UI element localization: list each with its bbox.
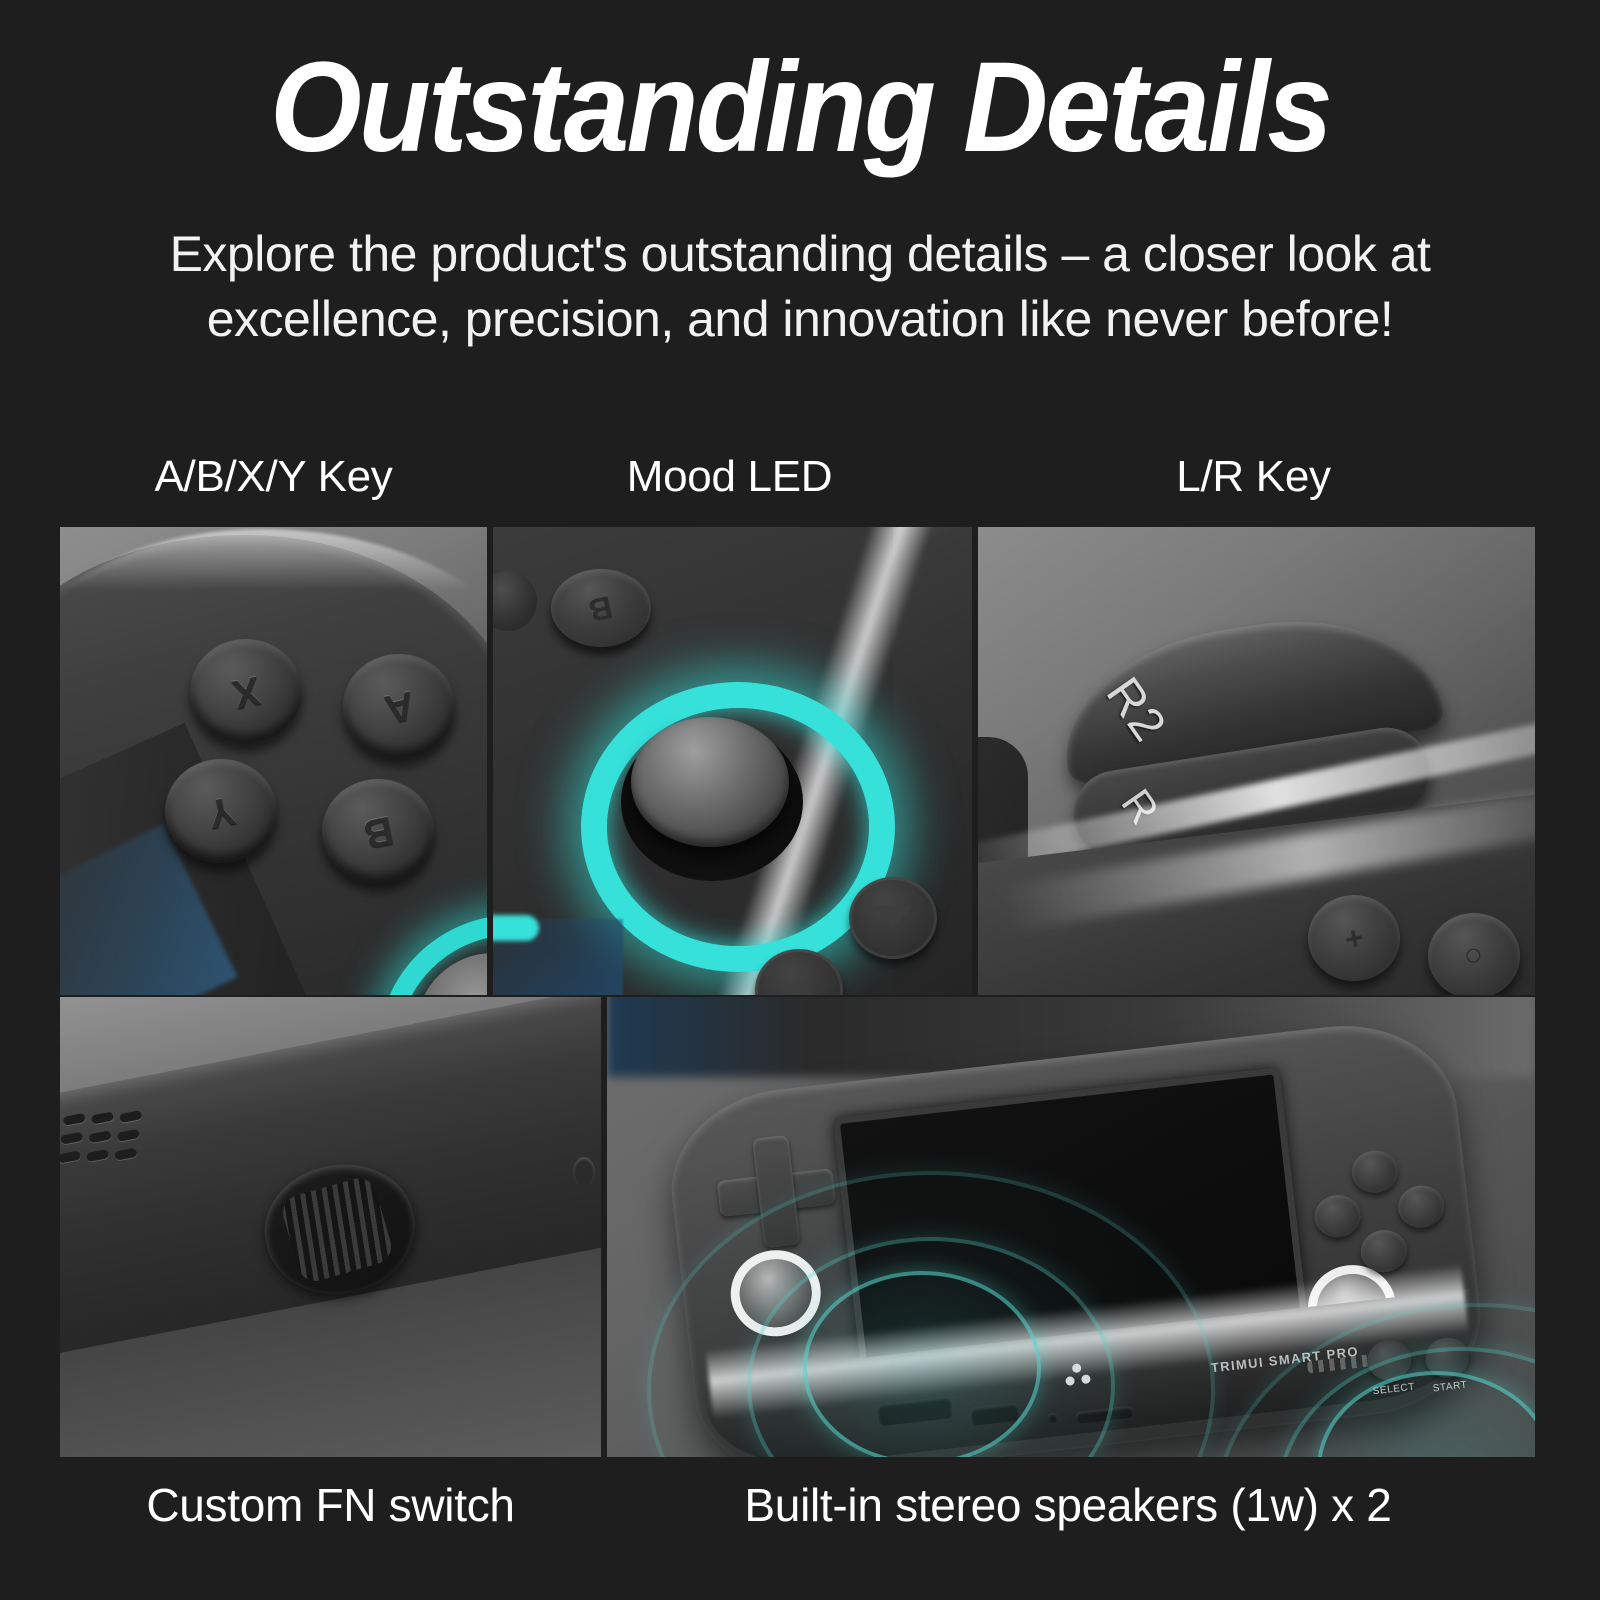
face-button-b-glyph: B	[586, 588, 616, 629]
bottom-label-row: Custom FN switch Built-in stereo speaker…	[60, 1478, 1535, 1532]
label-lr-key: L/R Key	[972, 452, 1535, 502]
face-button-a: A	[343, 654, 455, 758]
top-label-row: A/B/X/Y Key Mood LED L/R Key	[60, 452, 1535, 502]
sound-ripple-left-inner	[803, 1271, 1041, 1457]
shoulder-button-r2-label: R2	[1095, 668, 1178, 753]
joystick-cap	[631, 717, 789, 847]
photo-panel-mood-led: B	[493, 527, 972, 995]
face-button-y: Y	[165, 759, 277, 863]
face-button-one-glyph: +	[1341, 918, 1367, 958]
label-stereo-speakers: Built-in stereo speakers (1w) x 2	[601, 1478, 1535, 1532]
triangle-up-icon	[780, 978, 818, 995]
face-button-b-glyph: B	[359, 806, 397, 856]
page-title: Outstanding Details	[64, 44, 1536, 172]
face-button-cluster	[1308, 1143, 1451, 1283]
photo-panel-fn-switch	[60, 997, 601, 1457]
cyan-edge-glow	[493, 915, 539, 941]
face-button-two-glyph: ○	[1461, 936, 1488, 976]
detail-photo-grid: X A Y B B	[60, 527, 1535, 1457]
face-button-two: ○	[1428, 913, 1520, 995]
face-button-bottom	[1359, 1228, 1409, 1275]
face-button-right	[1396, 1183, 1446, 1230]
face-button-left	[1312, 1193, 1362, 1240]
face-button-b: B	[322, 779, 434, 883]
side-port-dot	[573, 1157, 595, 1187]
triangle-down-icon	[874, 906, 912, 930]
face-button-b: B	[551, 569, 651, 647]
page-subtitle: Explore the product's outstanding detail…	[100, 222, 1500, 352]
face-button-y-glyph: Y	[203, 786, 238, 836]
face-button-one: +	[1308, 895, 1400, 981]
photo-panel-stereo-speakers: TRIMUI SMART PRO SELECT START	[607, 997, 1535, 1457]
photo-panel-lr-key: R2 R + ○ △	[978, 527, 1535, 995]
dpad-down-button	[849, 877, 937, 959]
face-button-top	[1350, 1148, 1400, 1195]
face-button-a-glyph: A	[380, 681, 418, 731]
face-button-x: X	[190, 639, 302, 743]
label-abxy-key: A/B/X/Y Key	[60, 452, 487, 502]
fn-slider-ribs	[279, 1174, 396, 1285]
face-button-x-glyph: X	[228, 666, 263, 716]
label-mood-led: Mood LED	[487, 452, 972, 502]
photo-panel-abxy-key: X A Y B	[60, 527, 487, 995]
label-custom-fn-switch: Custom FN switch	[60, 1478, 601, 1532]
